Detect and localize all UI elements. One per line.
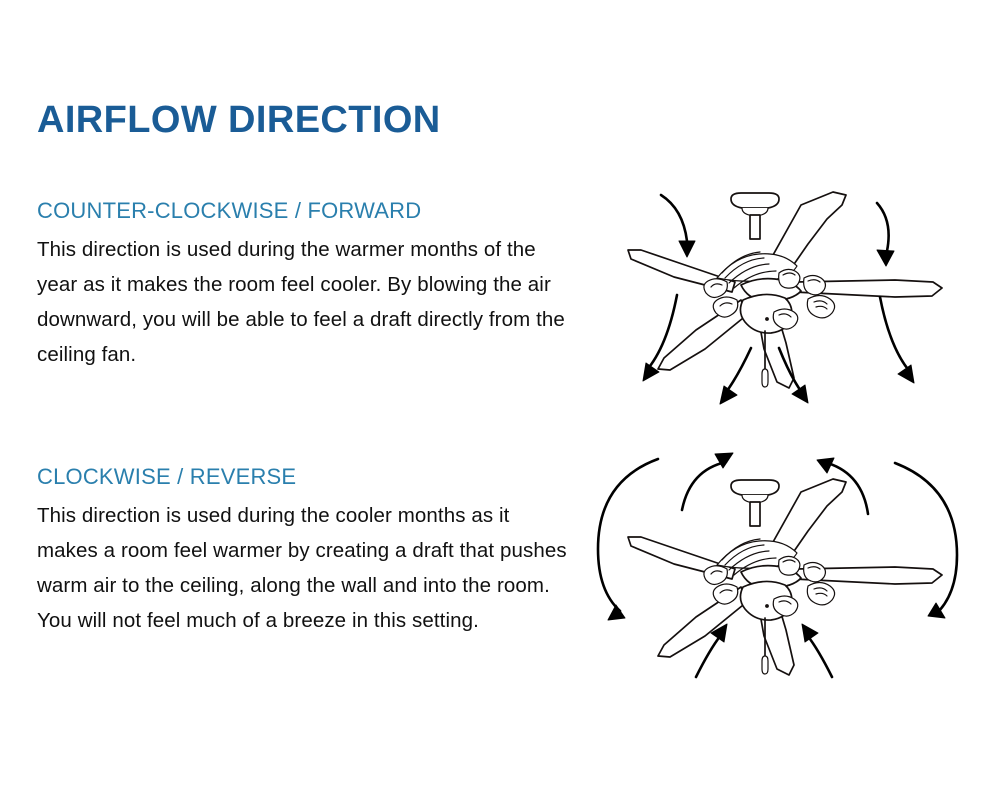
ceiling-fan-forward-airflow-diagram [565,178,985,428]
arrow-inner-left-up-over-top [682,453,733,510]
section-body-reverse: This direction is used during the cooler… [37,498,567,638]
arrow-outer-right-down-wall [895,463,957,618]
arrow-top-right-down [877,203,894,266]
slide-page: AIRFLOW DIRECTION COUNTER-CLOCKWISE / FO… [0,0,1000,800]
arrow-bottom-right-up-intake [802,624,832,677]
section-body-forward: This direction is used during the warmer… [37,232,567,372]
ceiling-fan-reverse-airflow-diagram [565,432,985,682]
section-body-reverse-text: This direction is used during the cooler… [37,498,567,638]
page-title: AIRFLOW DIRECTION [37,101,441,139]
section-heading-forward: COUNTER-CLOCKWISE / FORWARD [37,198,567,224]
arrow-top-left-down [661,195,695,257]
ceiling-fan-illustration-forward [628,192,942,388]
section-reverse: CLOCKWISE / REVERSE This direction is us… [37,464,567,638]
section-heading-reverse: CLOCKWISE / REVERSE [37,464,567,490]
section-forward: COUNTER-CLOCKWISE / FORWARD This directi… [37,198,567,372]
section-body-forward-text: This direction is used during the warmer… [37,232,567,372]
arrow-bottom-right-down [880,297,914,383]
ceiling-fan-illustration-reverse [628,479,942,675]
arrow-bottom-center-left-down [720,348,751,404]
